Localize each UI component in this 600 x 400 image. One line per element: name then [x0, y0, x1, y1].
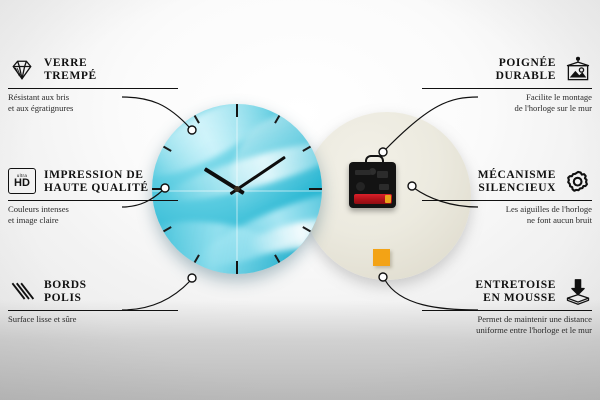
feature-description: Résistant aux bris et aux égratignures	[8, 92, 178, 113]
feature-title: IMPRESSION DE HAUTE QUALITÉ	[44, 169, 149, 195]
feature-entretoise-en-mousse: ENTRETOISE EN MOUSSE Permet de maintenir…	[422, 278, 592, 335]
feature-title: POIGNÉE DURABLE	[496, 57, 556, 83]
feature-verre-trempe: VERRE TREMPÉ Résistant aux bris et aux é…	[8, 56, 178, 113]
feature-title: VERRE TREMPÉ	[44, 57, 97, 83]
mechanism-detail	[355, 170, 371, 175]
mechanism-detail	[356, 182, 365, 191]
feature-mecanisme-silencieux: MÉCANISME SILENCIEUX Les aiguilles de l'…	[422, 168, 592, 225]
feature-divider	[8, 88, 178, 89]
feature-description: Surface lisse et sûre	[8, 314, 178, 324]
feature-header: MÉCANISME SILENCIEUX	[422, 168, 592, 196]
feature-divider	[422, 200, 592, 201]
foam-spacer-arrow-icon	[564, 278, 592, 306]
feature-divider	[422, 88, 592, 89]
feature-divider	[422, 310, 592, 311]
feature-description: Couleurs intenses et image claire	[8, 204, 178, 225]
feature-header: BORDS POLIS	[8, 278, 178, 306]
feature-bords-polis: BORDS POLIS Surface lisse et sûre	[8, 278, 178, 325]
mechanism-hanger-loop	[365, 155, 384, 167]
clock-mechanism	[349, 162, 396, 208]
feature-header: ultra HD IMPRESSION DE HAUTE QUALITÉ	[8, 168, 178, 196]
ultra-hd-icon-main-label: HD	[14, 178, 30, 189]
connector-dot-bords	[188, 274, 196, 282]
feature-divider	[8, 200, 178, 201]
mechanism-detail	[379, 184, 389, 190]
hanging-picture-icon	[564, 56, 592, 84]
polished-edges-icon	[8, 278, 36, 306]
clock-center-cap	[234, 186, 240, 192]
feature-title: ENTRETOISE EN MOUSSE	[475, 279, 556, 305]
feature-divider	[8, 310, 178, 311]
mechanism-detail	[377, 171, 388, 178]
feature-description: Permet de maintenir une distance uniform…	[422, 314, 592, 335]
feature-impression-haute-qualite: ultra HD IMPRESSION DE HAUTE QUALITÉ Cou…	[8, 168, 178, 225]
feature-header: POIGNÉE DURABLE	[422, 56, 592, 84]
feature-description: Les aiguilles de l'horloge ne font aucun…	[422, 204, 592, 225]
feature-title: BORDS POLIS	[44, 279, 87, 305]
feature-description: Facilite le montage de l'horloge sur le …	[422, 92, 592, 113]
feature-header: VERRE TREMPÉ	[8, 56, 178, 84]
feature-header: ENTRETOISE EN MOUSSE	[422, 278, 592, 306]
foam-spacer	[373, 249, 390, 266]
ultra-hd-icon: ultra HD	[8, 168, 36, 196]
product-infographic: VERRE TREMPÉ Résistant aux bris et aux é…	[0, 0, 600, 400]
feature-poignee-durable: POIGNÉE DURABLE Facilite le montage de l…	[422, 56, 592, 113]
feature-title: MÉCANISME SILENCIEUX	[478, 169, 556, 195]
diamond-icon	[8, 56, 36, 84]
battery-terminal	[385, 195, 391, 203]
gear-icon	[564, 168, 592, 196]
